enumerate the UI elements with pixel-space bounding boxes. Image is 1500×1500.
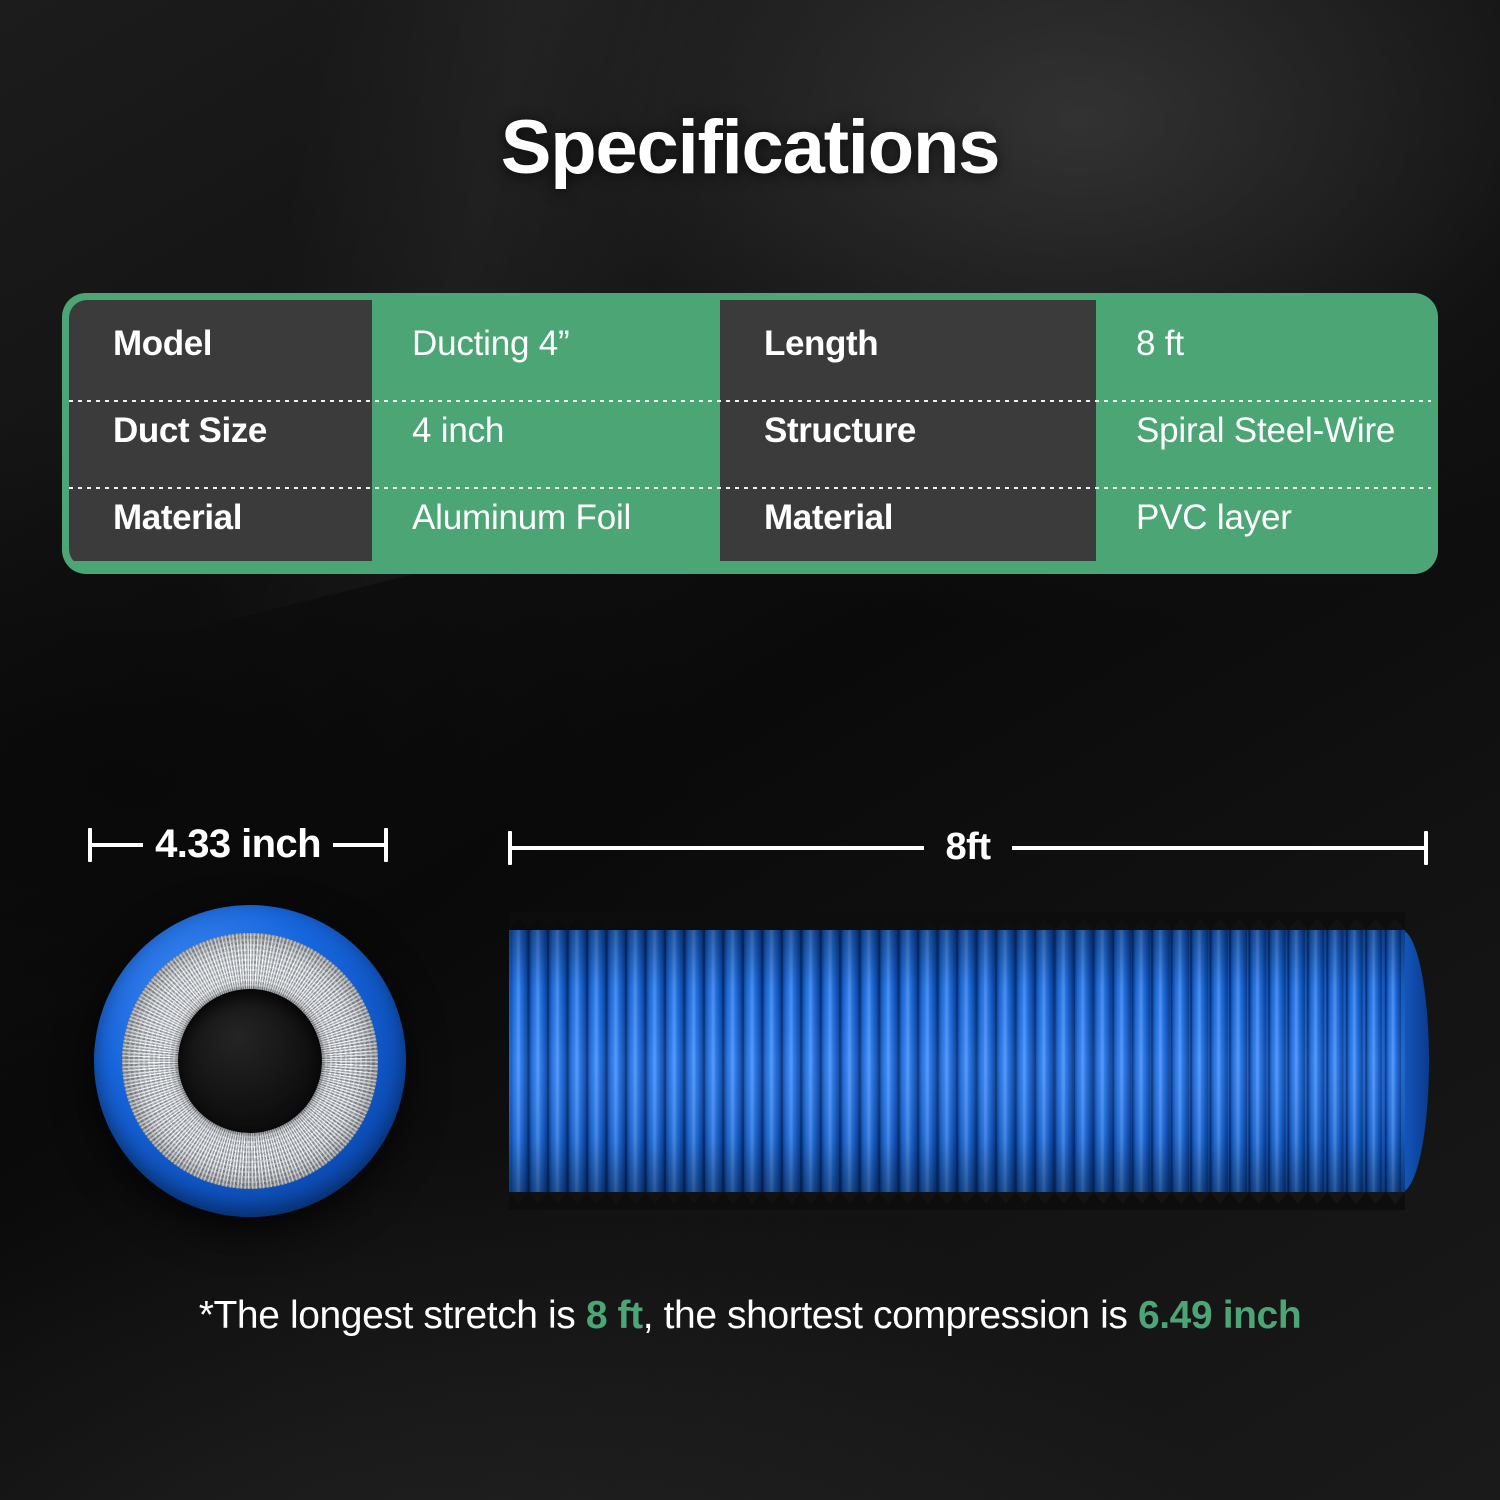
dimension-line <box>1012 846 1424 850</box>
dimension-line <box>92 843 143 847</box>
duct-hollow-core <box>178 989 322 1133</box>
spec-value-model: Ducting 4” <box>372 300 720 387</box>
diameter-label: 4.33 inch <box>143 822 333 867</box>
hose-illustration <box>505 912 1430 1210</box>
product-spec-infographic: Specifications Model Ducting 4” Length 8… <box>0 0 1500 1500</box>
spec-label-duct-size: Duct Size <box>69 387 372 474</box>
page-title: Specifications <box>0 104 1500 191</box>
spec-label-material-left: Material <box>69 474 372 561</box>
spec-value-material-right: PVC layer <box>1096 474 1431 561</box>
spec-label-length: Length <box>720 300 1096 387</box>
diameter-dimension: 4.33 inch <box>88 822 388 867</box>
specification-rows: Model Ducting 4” Length 8 ft Duct Size 4… <box>69 300 1431 567</box>
table-row: Material Aluminum Foil Material PVC laye… <box>69 474 1431 561</box>
dimension-cap-icon <box>384 828 388 862</box>
spec-label-material-right: Material <box>720 474 1096 561</box>
spec-label-structure: Structure <box>720 387 1096 474</box>
corrugated-ducting-hose <box>505 912 1430 1210</box>
table-row: Duct Size 4 inch Structure Spiral Steel-… <box>69 387 1431 474</box>
footnote-stretch-value: 8 ft <box>586 1294 643 1337</box>
spec-value-material-left: Aluminum Foil <box>372 474 720 561</box>
footnote-compression-value: 6.49 inch <box>1138 1294 1301 1337</box>
footnote-prefix: *The longest stretch is <box>199 1294 586 1337</box>
duct-cross-section <box>94 905 406 1217</box>
spec-value-structure: Spiral Steel-Wire <box>1096 387 1431 474</box>
spec-value-length: 8 ft <box>1096 300 1431 387</box>
table-row: Model Ducting 4” Length 8 ft <box>69 300 1431 387</box>
length-label: 8ft <box>924 826 1013 869</box>
dimension-line <box>512 846 924 850</box>
dimension-cap-icon <box>1424 831 1428 865</box>
footnote: *The longest stretch is 8 ft, the shorte… <box>0 1294 1500 1338</box>
footnote-middle: , the shortest compression is <box>643 1294 1138 1337</box>
specification-table: Model Ducting 4” Length 8 ft Duct Size 4… <box>62 293 1438 574</box>
dimension-line <box>333 843 384 847</box>
spec-value-duct-size: 4 inch <box>372 387 720 474</box>
spec-label-model: Model <box>69 300 372 387</box>
length-dimension: 8ft <box>508 826 1428 869</box>
